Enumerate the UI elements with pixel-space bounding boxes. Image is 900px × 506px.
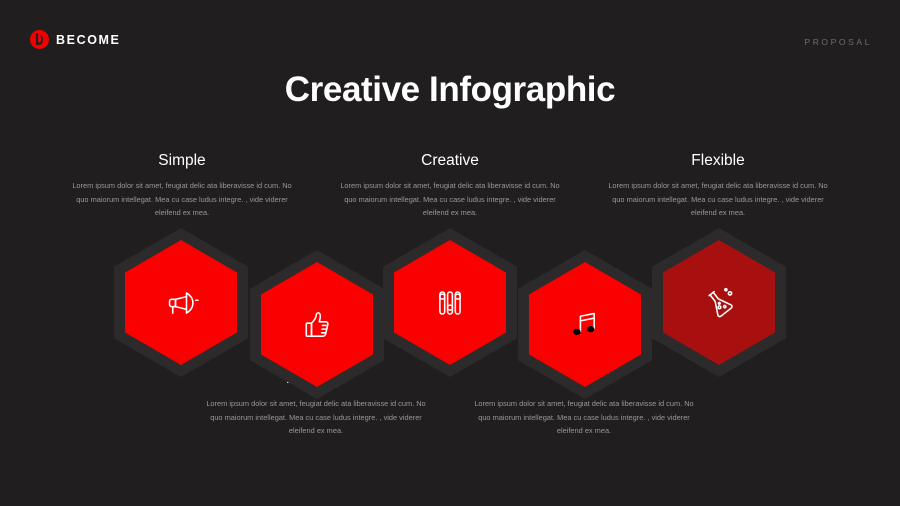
sliders-icon xyxy=(428,281,472,325)
text-block-creative: Creative Lorem ipsum dolor sit amet, feu… xyxy=(325,152,575,220)
brand-logo[interactable]: BECOME xyxy=(30,30,120,49)
brand-logo-text: BECOME xyxy=(56,33,120,47)
music-note-icon xyxy=(563,303,607,347)
header-corner-label: PROPOSAL xyxy=(804,37,872,47)
flask-icon xyxy=(697,281,741,325)
block-title-creative: Creative xyxy=(325,152,575,170)
text-block-flexible: Flexible Lorem ipsum dolor sit amet, feu… xyxy=(593,152,843,220)
block-body-creative: Lorem ipsum dolor sit amet, feugiat deli… xyxy=(325,179,575,220)
slide-header: BECOME PROPOSAL xyxy=(0,0,900,70)
block-title-flexible: Flexible xyxy=(593,152,843,170)
block-title-simple: Simple xyxy=(57,152,307,170)
thumbs-up-icon xyxy=(295,303,339,347)
slide-canvas: BECOME PROPOSAL Creative Infographic Sim… xyxy=(0,0,900,506)
block-body-flexible: Lorem ipsum dolor sit amet, feugiat deli… xyxy=(593,179,843,220)
text-block-simple: Simple Lorem ipsum dolor sit amet, feugi… xyxy=(57,152,307,220)
become-circle-b-logo-icon xyxy=(30,30,49,49)
megaphone-icon xyxy=(159,281,203,325)
page-title: Creative Infographic xyxy=(0,70,900,110)
block-body-simple: Lorem ipsum dolor sit amet, feugiat deli… xyxy=(57,179,307,220)
block-body-powerful: Lorem ipsum dolor sit amet, feugiat deli… xyxy=(191,397,441,438)
block-body-useful: Lorem ipsum dolor sit amet, feugiat deli… xyxy=(459,397,709,438)
